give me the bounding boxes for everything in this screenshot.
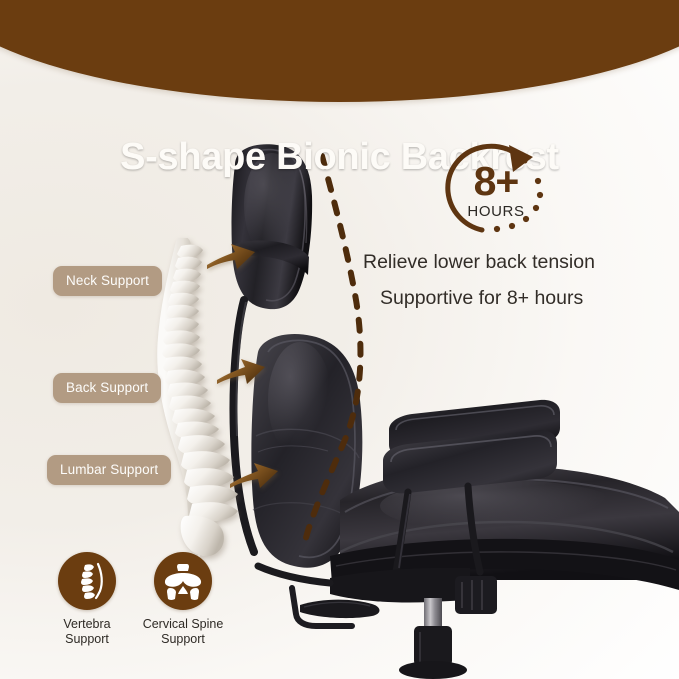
callout-lumbar-support[interactable]: Lumbar Support (47, 455, 171, 485)
human-spine-illustration (145, 238, 260, 558)
tagline-primary: Relieve lower back tension (363, 251, 595, 274)
tagline-secondary: Supportive for 8+ hours (380, 287, 583, 310)
arrow-right-icon (215, 358, 267, 392)
feature-cervical-spine-support: Cervical Spine Support (128, 552, 238, 646)
page-title: S-shape Bionic Backrest (0, 136, 679, 179)
spine-icon (67, 561, 107, 601)
feature-label: Vertebra Support (32, 617, 142, 646)
feature-label-line1: Cervical Spine (143, 617, 224, 631)
feature-icon-circle (58, 552, 116, 610)
feature-label-line2: Support (161, 632, 205, 646)
chair-base-mechanism (258, 566, 497, 679)
feature-icon-circle (154, 552, 212, 610)
arrow-right-icon (205, 243, 257, 277)
vertebra-icon (162, 561, 204, 601)
hours-badge-number: 8+ (437, 158, 555, 205)
infographic-canvas: S-shape Bionic Backrest Neck Support Bac… (0, 0, 679, 679)
callout-back-support[interactable]: Back Support (53, 373, 161, 403)
arrow-right-icon (228, 462, 280, 496)
hours-badge: 8+ HOURS (437, 141, 555, 237)
feature-vertebra-support: Vertebra Support (32, 552, 142, 646)
feature-label-line1: Vertebra (63, 617, 110, 631)
feature-label: Cervical Spine Support (128, 617, 238, 646)
hours-badge-unit: HOURS (437, 203, 555, 220)
feature-label-line2: Support (65, 632, 109, 646)
callout-neck-support[interactable]: Neck Support (53, 266, 162, 296)
